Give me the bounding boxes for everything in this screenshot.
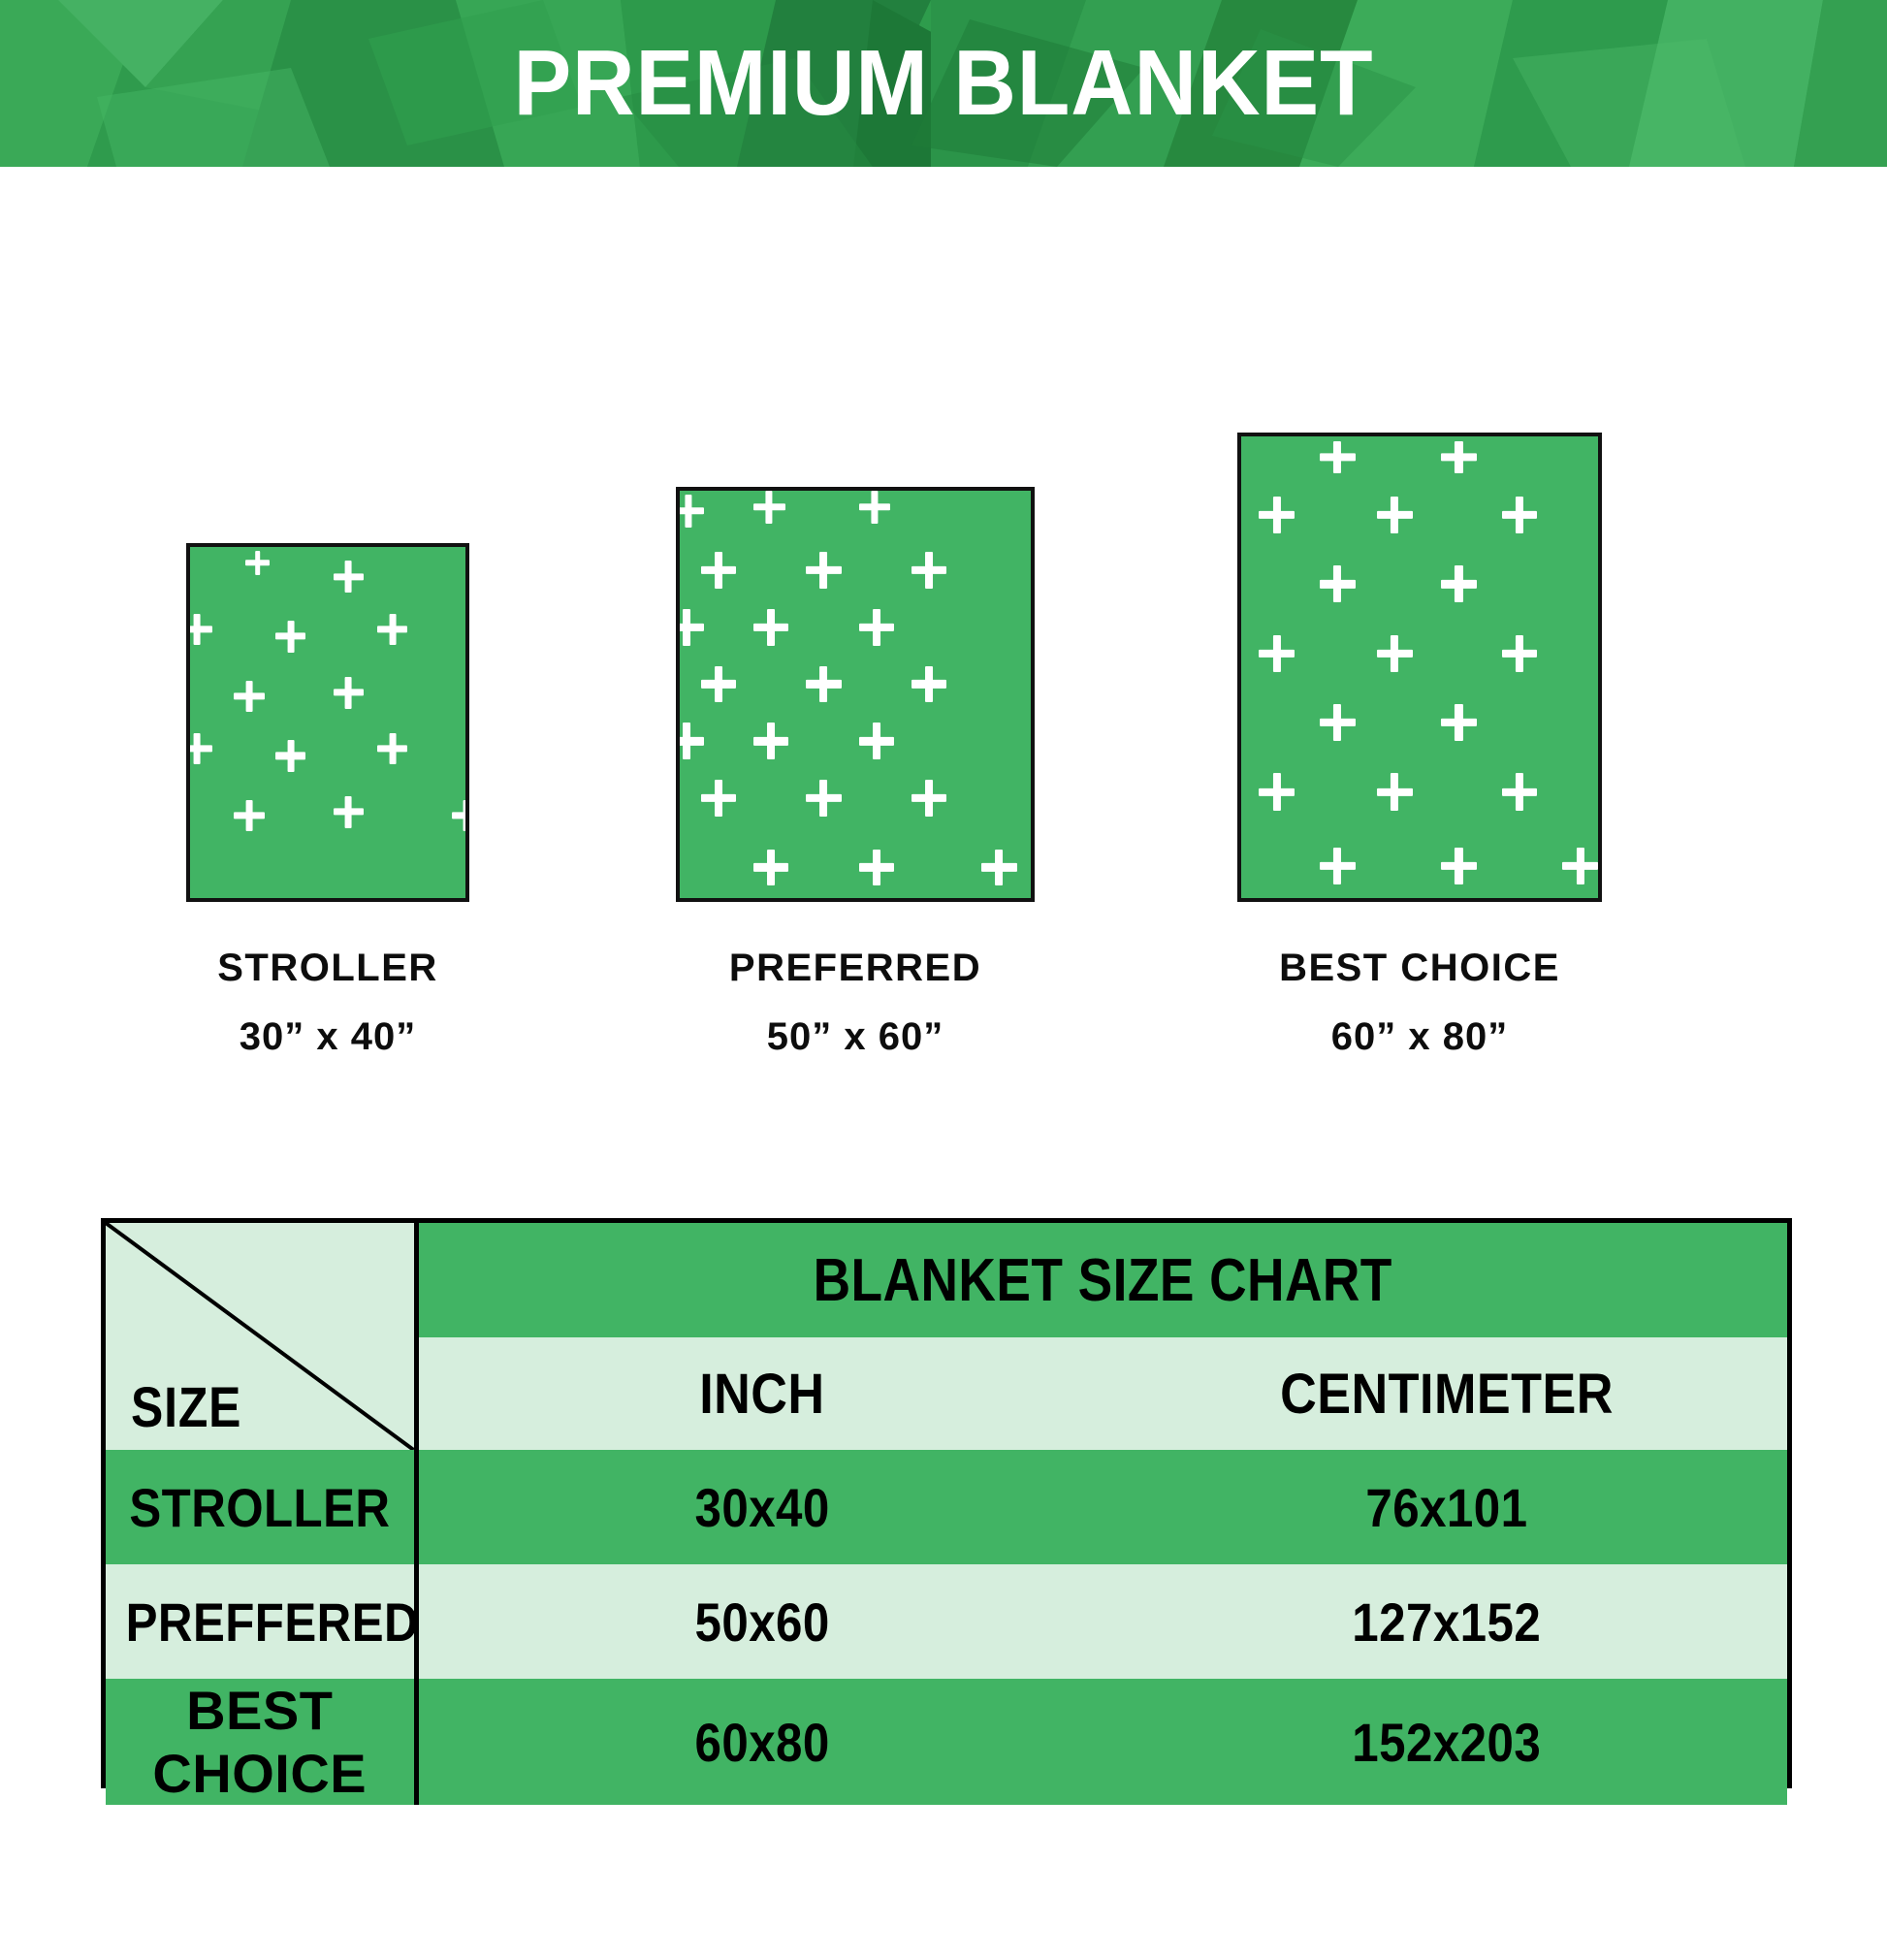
cross-icon	[701, 666, 736, 703]
cross-icon	[275, 740, 305, 772]
cross-icon	[859, 850, 894, 886]
cross-icon	[1320, 565, 1356, 602]
cross-icon	[1320, 848, 1356, 884]
corner-size-label: SIZE	[131, 1375, 241, 1440]
row-size-stroller: STROLLER	[106, 1450, 416, 1564]
page-title: PREMIUM BLANKET	[66, 0, 1821, 167]
cross-icon	[859, 491, 891, 524]
cross-icon	[377, 614, 407, 646]
row-inch-stroller: 30x40	[416, 1450, 1106, 1564]
cross-icon	[1441, 565, 1477, 602]
cross-icon	[1502, 773, 1538, 810]
swatch-dims-stroller: 30” x 40”	[186, 1015, 469, 1059]
cross-icon	[753, 850, 788, 886]
cross-icon	[1377, 635, 1413, 672]
cross-icon	[1441, 441, 1477, 473]
cross-icon	[186, 733, 212, 765]
cross-icon	[676, 495, 704, 528]
column-header-centimeter: CENTIMETER	[1106, 1337, 1787, 1450]
table-title-text: BLANKET SIZE CHART	[814, 1246, 1392, 1315]
cross-icon	[334, 677, 364, 709]
cross-icon	[753, 723, 788, 759]
row-cm-preffered-text: 127x152	[1353, 1590, 1542, 1654]
cross-icon	[275, 621, 305, 653]
blanket-swatch-preferred	[676, 487, 1035, 902]
cross-icon	[334, 796, 364, 828]
cross-icon	[234, 681, 264, 713]
swatch-row: STROLLER 30” x 40” PREFER	[0, 167, 1887, 1098]
table-row: BEST CHOICE 60x80 152x203	[106, 1679, 1787, 1805]
swatch-dims-preferred: 50” x 60”	[665, 1015, 1045, 1059]
row-size-stroller-text: STROLLER	[129, 1476, 390, 1539]
cross-icon	[859, 723, 894, 759]
cross-icon	[1502, 635, 1538, 672]
column-header-centimeter-text: CENTIMETER	[1280, 1362, 1614, 1427]
cross-icon	[701, 552, 736, 589]
cross-icon	[1502, 497, 1538, 533]
cross-icon	[1320, 441, 1356, 473]
cross-icon	[806, 780, 841, 817]
row-size-best-choice-text: BEST CHOICE	[106, 1679, 414, 1805]
cross-icon	[1377, 497, 1413, 533]
row-cm-stroller: 76x101	[1106, 1450, 1787, 1564]
row-inch-best-choice: 60x80	[416, 1679, 1106, 1805]
row-cm-preffered: 127x152	[1106, 1564, 1787, 1679]
row-cm-stroller-text: 76x101	[1365, 1476, 1527, 1539]
size-table: SIZE BLANKET SIZE CHART INCH CENTIMETER …	[106, 1223, 1787, 1805]
swatch-block-stroller: STROLLER 30” x 40”	[186, 543, 469, 1059]
cross-icon	[806, 666, 841, 703]
swatch-label-preferred: PREFERRED	[665, 947, 1045, 990]
table-title-row: SIZE BLANKET SIZE CHART	[106, 1223, 1787, 1337]
swatch-block-preferred: PREFERRED 50” x 60”	[665, 487, 1045, 1059]
column-header-inch-text: INCH	[700, 1362, 825, 1427]
swatch-block-best-choice: BEST CHOICE 60” x 80”	[1146, 433, 1693, 1059]
column-header-inch: INCH	[416, 1337, 1106, 1450]
row-size-preffered-text: PREFFERED	[126, 1590, 419, 1654]
cross-icon	[912, 780, 946, 817]
cross-icon	[753, 491, 785, 524]
row-inch-preffered-text: 50x60	[695, 1590, 830, 1654]
row-inch-stroller-text: 30x40	[695, 1476, 830, 1539]
cross-icon	[1259, 773, 1295, 810]
table-title-cell: BLANKET SIZE CHART	[416, 1223, 1787, 1337]
cross-icon	[186, 614, 212, 646]
cross-icon	[859, 609, 894, 646]
table-row: STROLLER 30x40 76x101	[106, 1450, 1787, 1564]
cross-icon	[981, 850, 1016, 886]
row-size-preffered: PREFFERED	[106, 1564, 416, 1679]
swatch-label-best-choice: BEST CHOICE	[1146, 947, 1693, 990]
swatch-dims-best-choice: 60” x 80”	[1146, 1015, 1693, 1059]
cross-icon	[1562, 848, 1598, 884]
row-inch-preffered: 50x60	[416, 1564, 1106, 1679]
row-cm-best-choice-text: 152x203	[1353, 1711, 1542, 1774]
table-row: PREFFERED 50x60 127x152	[106, 1564, 1787, 1679]
blanket-swatch-best-choice	[1237, 433, 1602, 902]
blanket-size-chart-table: SIZE BLANKET SIZE CHART INCH CENTIMETER …	[101, 1218, 1792, 1788]
cross-icon	[676, 609, 704, 646]
cross-icon	[1377, 773, 1413, 810]
cross-icon	[753, 609, 788, 646]
cross-icon	[1320, 704, 1356, 741]
cross-icon	[1441, 704, 1477, 741]
row-cm-best-choice: 152x203	[1106, 1679, 1787, 1805]
cross-icon	[452, 800, 469, 832]
row-size-best-choice: BEST CHOICE	[106, 1679, 416, 1805]
swatch-label-stroller: STROLLER	[186, 947, 469, 990]
cross-icon	[1259, 635, 1295, 672]
cross-icon	[334, 561, 364, 593]
header-banner: PREMIUM BLANKET	[0, 0, 1887, 167]
corner-size-cell: SIZE	[106, 1223, 416, 1450]
cross-icon	[701, 780, 736, 817]
cross-icon	[1259, 497, 1295, 533]
cross-icon	[234, 800, 264, 832]
cross-icon	[806, 552, 841, 589]
cross-icon	[1441, 848, 1477, 884]
cross-icon	[245, 551, 271, 575]
cross-icon	[676, 723, 704, 759]
row-inch-best-choice-text: 60x80	[695, 1711, 830, 1774]
cross-icon	[912, 666, 946, 703]
blanket-swatch-stroller	[186, 543, 469, 902]
cross-icon	[912, 552, 946, 589]
cross-icon	[377, 733, 407, 765]
